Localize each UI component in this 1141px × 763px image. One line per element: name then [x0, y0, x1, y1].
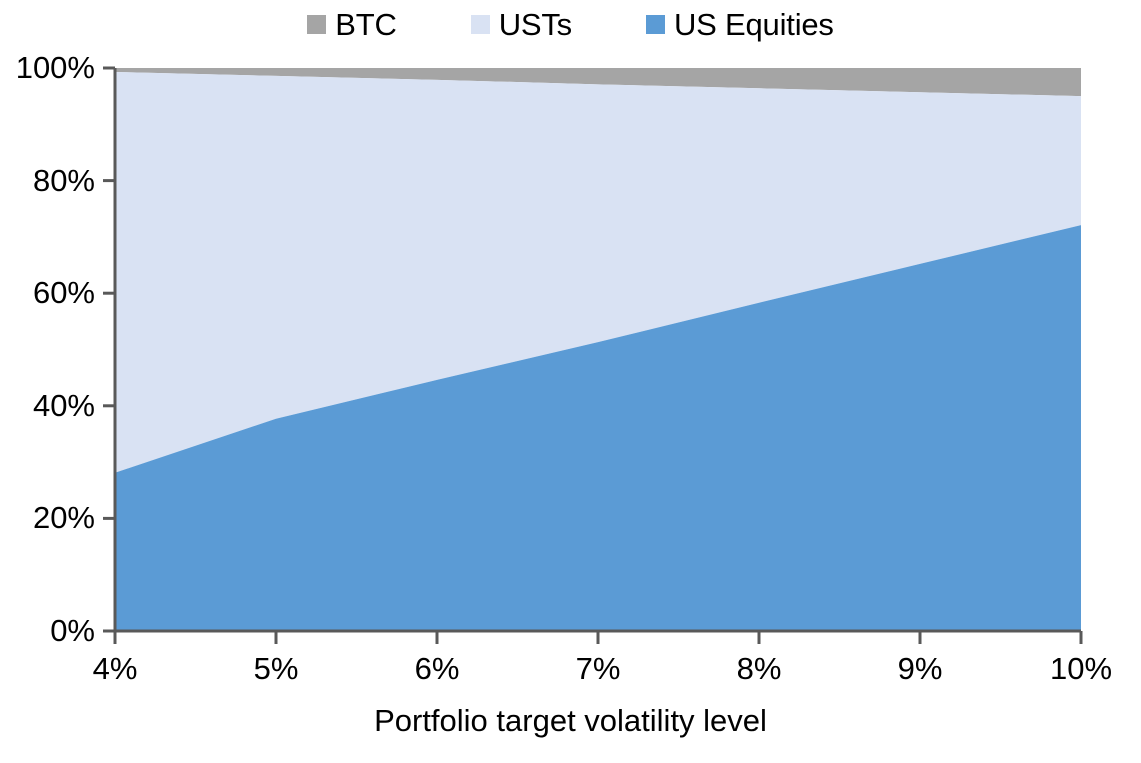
y-axis-tick-label: 60% — [0, 277, 95, 308]
plot-area: 0%20%40%60%80%100% 4%5%6%7%8%9%10% — [0, 0, 1141, 700]
x-axis-tick-label: 4% — [45, 653, 185, 684]
x-axis-tick-label: 10% — [1011, 653, 1141, 684]
y-axis-tick-label: 20% — [0, 502, 95, 533]
area-series-group — [115, 68, 1081, 631]
x-axis-tick-label: 5% — [206, 653, 346, 684]
x-axis-title: Portfolio target volatility level — [0, 703, 1141, 739]
x-axis-tick-label: 7% — [528, 653, 668, 684]
x-axis-tick-label: 8% — [689, 653, 829, 684]
y-axis-tick-label: 100% — [0, 52, 95, 83]
x-axis-tick-label: 6% — [367, 653, 507, 684]
y-axis-tick-label: 0% — [0, 615, 95, 646]
y-axis-tick-label: 80% — [0, 165, 95, 196]
y-axis-tick-label: 40% — [0, 390, 95, 421]
x-axis-tick-label: 9% — [850, 653, 990, 684]
stacked-area-plot — [0, 0, 1141, 700]
chart-container: BTC USTs US Equities 0%20%40%60%80%100% … — [0, 0, 1141, 763]
